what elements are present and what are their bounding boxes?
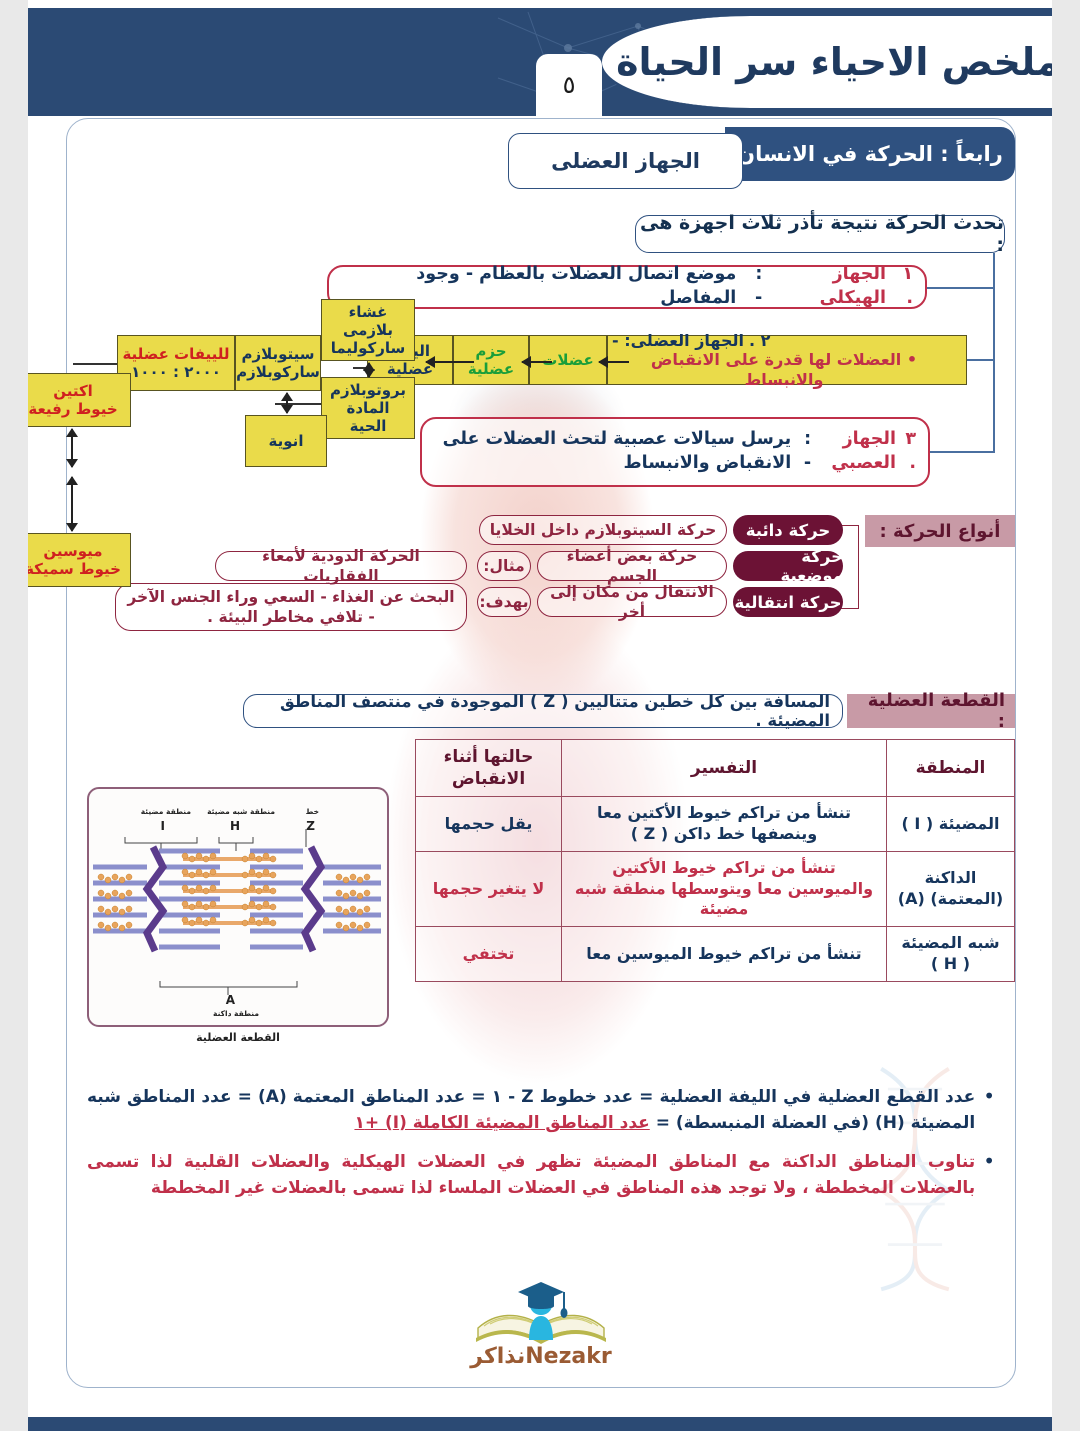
movement-def-0: حركة السيتوبلازم داخل الخلايا — [479, 515, 727, 545]
footer-brand: Nezakrنذاكر — [67, 1270, 1015, 1369]
arrow-membrane-protoplasm — [368, 363, 370, 377]
chain-arrow-3 — [599, 361, 629, 363]
system-1-number: ١ . — [890, 263, 913, 310]
cell-box-plasma-membrane: غشاء بلازمى ساركوليما — [321, 299, 415, 361]
line-filament-branch — [73, 363, 117, 365]
row-1-region: الداكنة (المعتمة) (A) — [887, 851, 1015, 926]
sub-section-title: الجهاز العضلى — [508, 133, 743, 189]
movement-def-1-text: حركة بعض أعضاء الجسم — [546, 546, 718, 586]
header-banner: ملخص الاحياء سر الحياة ٥ — [28, 8, 1052, 116]
table-row: شبه المضيئة ( H ) تنشأ من تراكم خيوط الم… — [416, 927, 1015, 982]
chain-box-bundles: عضلات — [529, 335, 607, 385]
myofibrils-line2: ٢٠٠٠ : ١٠٠٠ — [131, 363, 221, 381]
movement-type-0: حركة دائبة — [733, 515, 843, 545]
system-2-separator: : - — [612, 331, 631, 350]
chain-label-fascicles: حزم عضلية — [458, 342, 524, 378]
system-1-separator: : - — [742, 263, 762, 310]
system-2-number: ٢ . — [749, 331, 770, 350]
sarcomere-label: القطعة العضلية : — [847, 694, 1015, 728]
connector-h-3 — [930, 451, 995, 453]
cell-box-actin: اكتين خيوط رفيعة — [28, 373, 131, 427]
arrow-myosin — [71, 477, 73, 531]
connector-h-2 — [965, 359, 995, 361]
myofibrils-line1: للييفات عضلية — [122, 345, 229, 363]
row-2-state: تختفي — [416, 927, 562, 982]
actin-line2: خيوط رفيعة — [28, 400, 117, 418]
cell-box-myosin: ميوسين خيوط سميكة — [28, 533, 131, 587]
footer-brand-name: Nezakrنذاكر — [470, 1344, 611, 1369]
cytoplasm-line1: سيتوبلازم — [241, 345, 314, 363]
sarcomere-diagram: منطقة مضيئة I منطقة شبه مضيئة H خط Z A م… — [87, 787, 389, 1027]
table-row: الداكنة (المعتمة) (A) تنشأ من تراكم خيوط… — [416, 851, 1015, 926]
cell-box-myofibrils: للييفات عضلية ٢٠٠٠ : ١٠٠٠ — [117, 335, 235, 391]
movement-types-label: أنواع الحركة : — [865, 515, 1015, 547]
movement-def-2-text: الانتقال من مكان إلى أخر — [546, 582, 718, 622]
arrow-cyto-nucleus — [286, 393, 288, 413]
diagram-label-Z-top: خط — [306, 807, 319, 816]
main-title-plate: ملخص الاحياء سر الحياة — [597, 16, 1052, 108]
intro-statement: تحدث الحركة نتيجة تأذر ثلاث اجهزة هى : — [635, 215, 1005, 253]
muscle-system-row: ٢ . الجهاز العضلى : - • العضلات لها قدرة… — [367, 335, 967, 385]
movement-def-2: الانتقال من مكان إلى أخر — [537, 587, 727, 617]
system-3-number: ٣ . — [900, 428, 916, 475]
movement-type-1-label: حركة موضعية — [733, 547, 843, 585]
system-box-skeletal: ١ . الجهاز الهيكلى : - موضع اتصال العضلا… — [327, 265, 927, 309]
system-3-separator: : - — [797, 428, 811, 475]
row-0-region: المضيئة ( I ) — [887, 797, 1015, 852]
table-row: المضيئة ( I ) تنشأ من تراكم خيوط الأكتين… — [416, 797, 1015, 852]
row-0-state: يقل حجمها — [416, 797, 562, 852]
movement-types-label-text: أنواع الحركة : — [880, 521, 1001, 542]
bullet-0-text: عدد القطع العضلية في الليفة العضلية = عد… — [87, 1084, 975, 1137]
sarcomere-definition: المسافة بين كل خطين متتاليين ( Z ) الموج… — [243, 694, 843, 728]
movement-extra-1: الحركة الدودية لأمعاء الفقاريات — [215, 551, 467, 581]
table-header-explanation: التفسير — [562, 740, 887, 797]
movement-def-1: حركة بعض أعضاء الجسم — [537, 551, 727, 581]
sarcomere-table: المنطقة التفسير حالتها أثناء الانقباض ال… — [415, 739, 1015, 982]
movement-extra-2-text: البحث عن الغذاء - السعي وراء الجنس الآخر… — [124, 587, 458, 627]
bullet-item: • عدد القطع العضلية في الليفة العضلية = … — [87, 1084, 995, 1137]
page-number-badge: ٥ — [536, 54, 602, 116]
nucleus-label: انوية — [269, 432, 304, 450]
chain-label-muscles: عضلات — [542, 351, 594, 369]
protoplasm-line1: بروتوبلازم — [330, 381, 406, 399]
system-3-name: الجهاز العصبي — [811, 428, 896, 475]
bullet-1-text: تناوب المناطق الداكنة مع المناطق المضيئة… — [87, 1149, 975, 1202]
movement-extra-label-2-text: بهدف: — [479, 592, 528, 612]
movement-def-0-text: حركة السيتوبلازم داخل الخلايا — [490, 520, 717, 540]
movement-type-1: حركة موضعية — [733, 551, 843, 581]
cell-box-cytoplasm: سيتوبلازم ساركوبلازم — [235, 335, 321, 391]
system-2-text-box: ٢ . الجهاز العضلى : - • العضلات لها قدرة… — [607, 335, 967, 385]
diagram-label-A: A — [226, 993, 235, 1007]
row-2-region: شبه المضيئة ( H ) — [887, 927, 1015, 982]
cell-box-nucleus: انوية — [245, 415, 327, 467]
system-1-name: الجهاز الهيكلى — [762, 263, 886, 310]
table-header-state: حالتها أثناء الانقباض — [416, 740, 562, 797]
page-title: ملخص الاحياء سر الحياة — [594, 40, 1052, 84]
diagram-label-Z: Z — [306, 819, 315, 833]
table-header-region: المنطقة — [887, 740, 1015, 797]
movement-type-2-label: حركة انتقالية — [734, 593, 841, 612]
row-1-state: لا يتغير حجمها — [416, 851, 562, 926]
diagram-label-A-bottom: منطقة داكنة — [213, 1009, 259, 1018]
content-frame: رابعاً : الحركة في الانسان الجهاز العضلى… — [66, 118, 1016, 1388]
graduation-book-logo-icon — [466, 1270, 616, 1348]
movement-extra-1-text: الحركة الدودية لأمعاء الفقاريات — [224, 546, 458, 586]
movement-type-0-label: حركة دائبة — [746, 521, 831, 540]
system-2-name: الجهاز العضلى — [631, 331, 744, 350]
table-header-row: المنطقة التفسير حالتها أثناء الانقباض — [416, 740, 1015, 797]
movement-type-2: حركة انتقالية — [733, 587, 843, 617]
movement-bracket — [841, 525, 859, 609]
movement-extra-label-2: بهدف: — [477, 587, 531, 617]
chain-arrow-1 — [426, 361, 474, 363]
myosin-line1: ميوسين — [43, 542, 102, 560]
row-2-explanation: تنشأ من تراكم خيوط الميوسين معا — [562, 927, 887, 982]
diagram-label-I-top: منطقة مضيئة — [141, 807, 191, 816]
actin-line1: اكتين — [53, 382, 93, 400]
bullet-dot-icon: • — [983, 1149, 995, 1173]
plasma-membrane-line1: غشاء بلازمى — [326, 303, 410, 339]
sarcomere-label-text: القطعة العضلية : — [857, 690, 1005, 732]
plasma-membrane-line2: ساركوليما — [331, 339, 406, 357]
myosin-line2: خيوط سميكة — [28, 560, 121, 578]
bullet-item: • تناوب المناطق الداكنة مع المناطق المضي… — [87, 1149, 995, 1202]
diagram-label-I: I — [161, 819, 165, 833]
system-2-desc: • العضلات لها قدرة على الانقباض والانبسا… — [612, 350, 956, 388]
movement-extra-label-1: مثال: — [477, 551, 531, 581]
movement-extra-2: البحث عن الغذاء - السعي وراء الجنس الآخر… — [115, 583, 467, 631]
cell-box-protoplasm: بروتوبلازم المادة الحية — [321, 377, 415, 439]
footer-brand-arabic: نذاكر — [470, 1344, 525, 1369]
row-0-explanation: تنشأ من تراكم خيوط الأكتين معا وينصفها خ… — [562, 797, 887, 852]
page-sheet: ملخص الاحياء سر الحياة ٥ رابعاً : الحركة… — [28, 0, 1052, 1431]
system-box-nervous: ٣ . الجهاز العصبي : - يرسل سيالات عصبية … — [420, 417, 930, 487]
connector-h-1 — [925, 287, 995, 289]
movement-extra-label-1-text: مثال: — [483, 556, 524, 576]
diagram-label-H: H — [230, 819, 240, 833]
connector-vertical — [993, 253, 995, 453]
sarcomere-definition-text: المسافة بين كل خطين متتاليين ( Z ) الموج… — [256, 692, 830, 730]
cytoplasm-line2: ساركوبلازم — [236, 363, 320, 381]
footer-bar — [28, 1417, 1052, 1431]
section-title: رابعاً : الحركة في الانسان — [725, 127, 1015, 181]
chain-arrow-2 — [522, 361, 552, 363]
diagram-caption: القطعة العضلية — [87, 1031, 389, 1044]
bullet-dot-icon: • — [983, 1084, 995, 1108]
bullets-section: • عدد القطع العضلية في الليفة العضلية = … — [87, 1084, 995, 1213]
chain-box-fascicles: حزم عضلية — [453, 335, 529, 385]
system-3-desc: يرسل سيالات عصبية لتحث العضلات على الانق… — [434, 428, 791, 475]
footer-brand-latin: Nezakr — [525, 1344, 611, 1369]
arrow-actin — [71, 429, 73, 467]
row-1-explanation: تنشأ من تراكم خيوط الأكتين والميوسين معا… — [562, 851, 887, 926]
diagram-label-H-top: منطقة شبه مضيئة — [207, 807, 275, 816]
protoplasm-line2: المادة الحية — [326, 399, 410, 435]
